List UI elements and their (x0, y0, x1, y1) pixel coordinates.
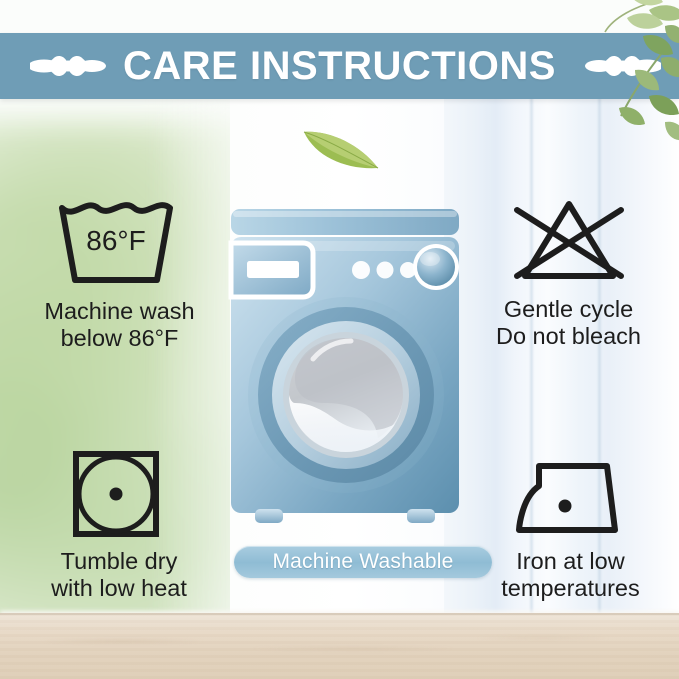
washing-machine-illustration (225, 207, 465, 537)
care-symbol-tumble-dry-low: Tumble dry with low heat (14, 446, 224, 603)
control-dot-1 (352, 261, 370, 279)
tumble-dry-square-icon (49, 446, 189, 542)
drawer-slot (247, 261, 299, 278)
caption-line-1: Gentle cycle (496, 296, 641, 323)
foliage-branch-icon (565, 0, 679, 142)
care-instructions-infographic: CARE INSTRUCTIONS 86°F Mach (0, 0, 679, 679)
caption-line-2: temperatures (501, 575, 639, 602)
control-dot-2 (377, 262, 394, 279)
caption-line-1: Machine wash (44, 298, 194, 325)
machine-washable-badge: Machine Washable (234, 546, 492, 578)
wash-temperature-value: 86°F (86, 225, 145, 256)
wood-grain (0, 629, 679, 659)
caption-line-2: below 86°F (44, 325, 194, 352)
care-caption-machine-wash: Machine wash below 86°F (44, 298, 194, 353)
badge-label: Machine Washable (272, 550, 453, 574)
caption-line-1: Iron at low (501, 548, 639, 575)
caption-line-1: Tumble dry (51, 548, 187, 575)
wash-tub-icon: 86°F (50, 196, 190, 292)
care-symbol-iron-low-temp: Iron at low temperatures (468, 452, 673, 603)
care-caption-gentle-cycle: Gentle cycle Do not bleach (496, 296, 641, 351)
caption-line-2: Do not bleach (496, 323, 641, 350)
care-caption-tumble-dry: Tumble dry with low heat (51, 548, 187, 603)
machine-foot-right (407, 509, 435, 523)
care-symbol-machine-wash: 86°F Machine wash below 86°F (12, 196, 227, 353)
care-caption-iron: Iron at low temperatures (501, 548, 639, 603)
floating-leaf-icon (300, 118, 382, 172)
crossed-triangle-icon (499, 194, 639, 290)
iron-icon (501, 452, 641, 542)
machine-foot-left (255, 509, 283, 523)
care-symbol-gentle-cycle-no-bleach: Gentle cycle Do not bleach (466, 194, 671, 351)
caption-line-2: with low heat (51, 575, 187, 602)
